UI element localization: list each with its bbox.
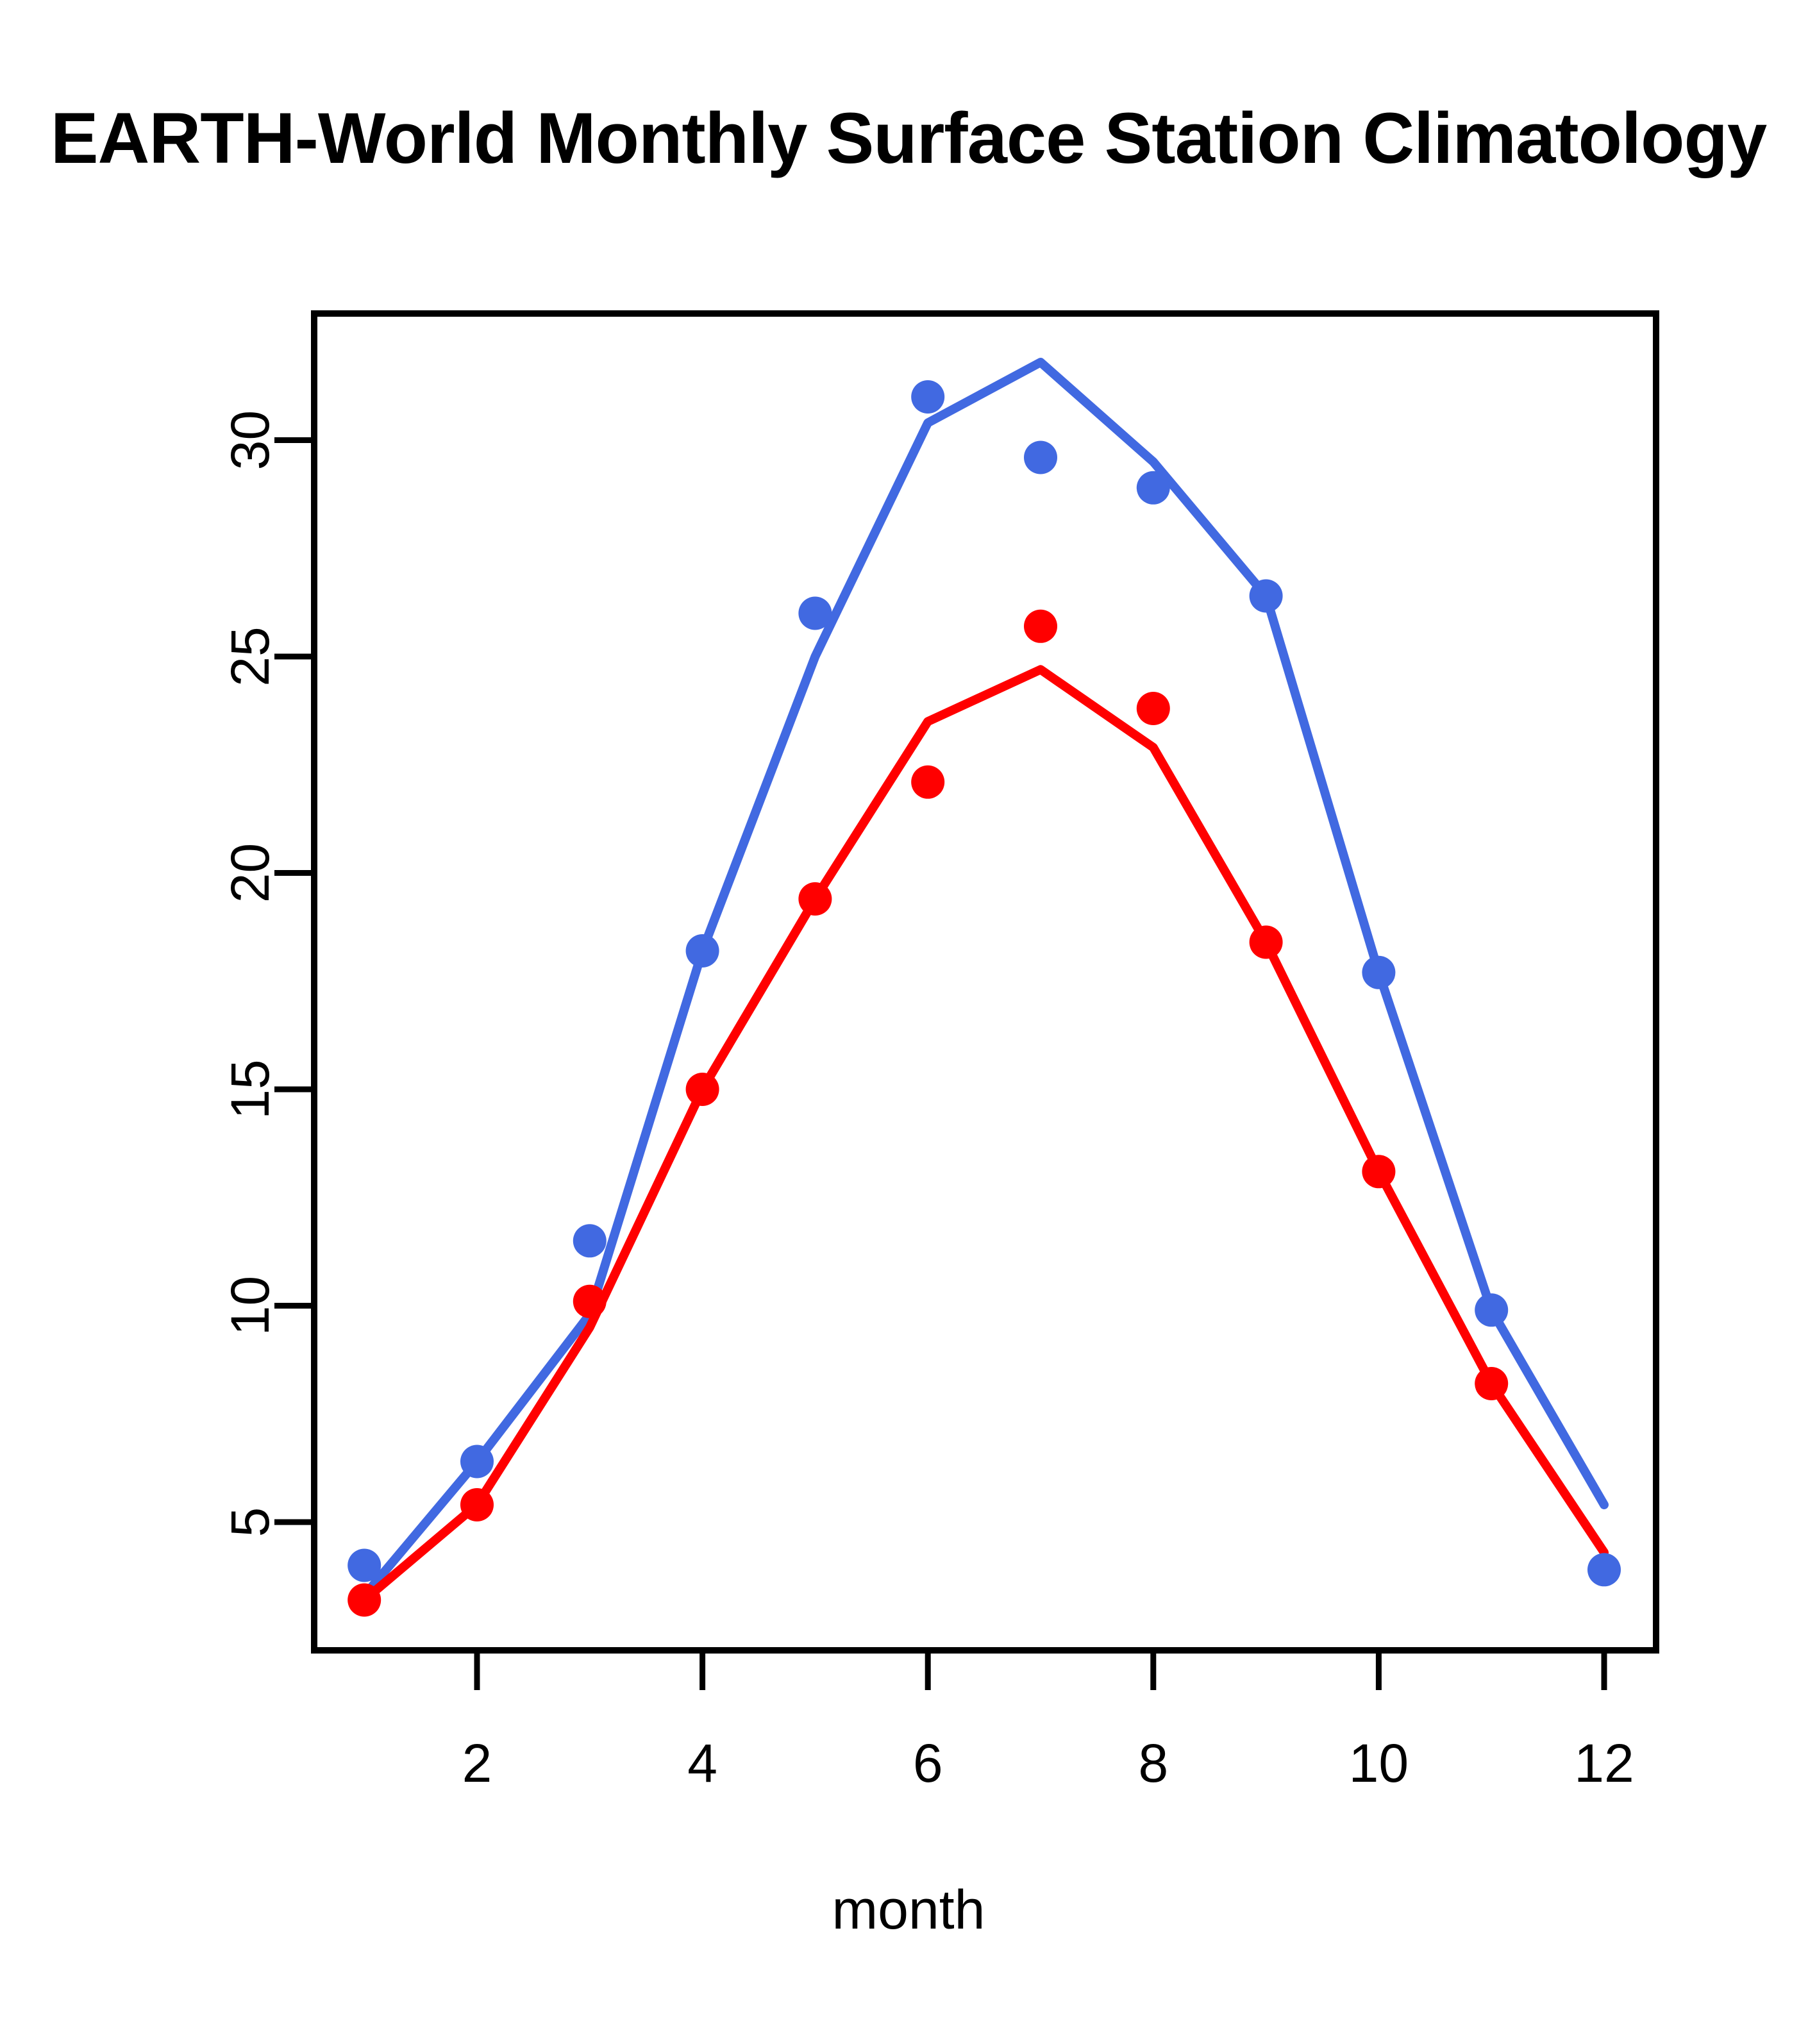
y-axis-tick-label: 30: [220, 410, 280, 470]
y-axis-tick-label: 20: [220, 843, 280, 903]
x-axis-title: month: [0, 1879, 1817, 1942]
data-point: [798, 597, 832, 630]
x-axis-tick-label: 8: [1138, 1733, 1168, 1793]
data-point: [347, 1584, 381, 1617]
data-point: [347, 1549, 381, 1582]
series-points-red-points: [347, 610, 1508, 1617]
data-point: [1362, 1155, 1395, 1188]
x-axis-tick-label: 2: [462, 1733, 492, 1793]
data-point: [1024, 441, 1057, 474]
x-axis-tick-label: 4: [687, 1733, 717, 1793]
series-line-blue-line: [364, 362, 1604, 1596]
data-point: [1137, 692, 1170, 725]
data-point: [1024, 610, 1057, 643]
data-point: [460, 1445, 494, 1479]
data-point: [460, 1488, 494, 1521]
plot-area: 5101520253024681012: [0, 0, 1817, 2044]
series-line-red-line: [364, 669, 1604, 1600]
data-point: [1587, 1553, 1621, 1586]
chart-page: EARTH-World Monthly Surface Station Clim…: [0, 0, 1817, 2044]
y-axis-tick-label: 25: [220, 626, 280, 686]
y-axis-tick-label: 15: [220, 1059, 280, 1119]
data-point: [911, 766, 944, 799]
data-point: [686, 1073, 719, 1106]
data-point: [573, 1285, 607, 1318]
x-axis-tick-label: 6: [913, 1733, 943, 1793]
x-axis-tick-label: 12: [1574, 1733, 1634, 1793]
data-point: [1250, 580, 1283, 613]
data-point: [686, 934, 719, 968]
data-point: [1362, 956, 1395, 989]
data-point: [1137, 471, 1170, 505]
data-point: [798, 882, 832, 916]
data-point: [1250, 926, 1283, 959]
data-point: [911, 380, 944, 414]
x-axis-tick-label: 10: [1349, 1733, 1409, 1793]
y-axis-tick-label: 5: [220, 1507, 280, 1537]
data-point: [1475, 1293, 1508, 1327]
data-point: [573, 1224, 607, 1257]
data-point: [1475, 1367, 1508, 1400]
y-axis-tick-label: 10: [220, 1276, 280, 1336]
